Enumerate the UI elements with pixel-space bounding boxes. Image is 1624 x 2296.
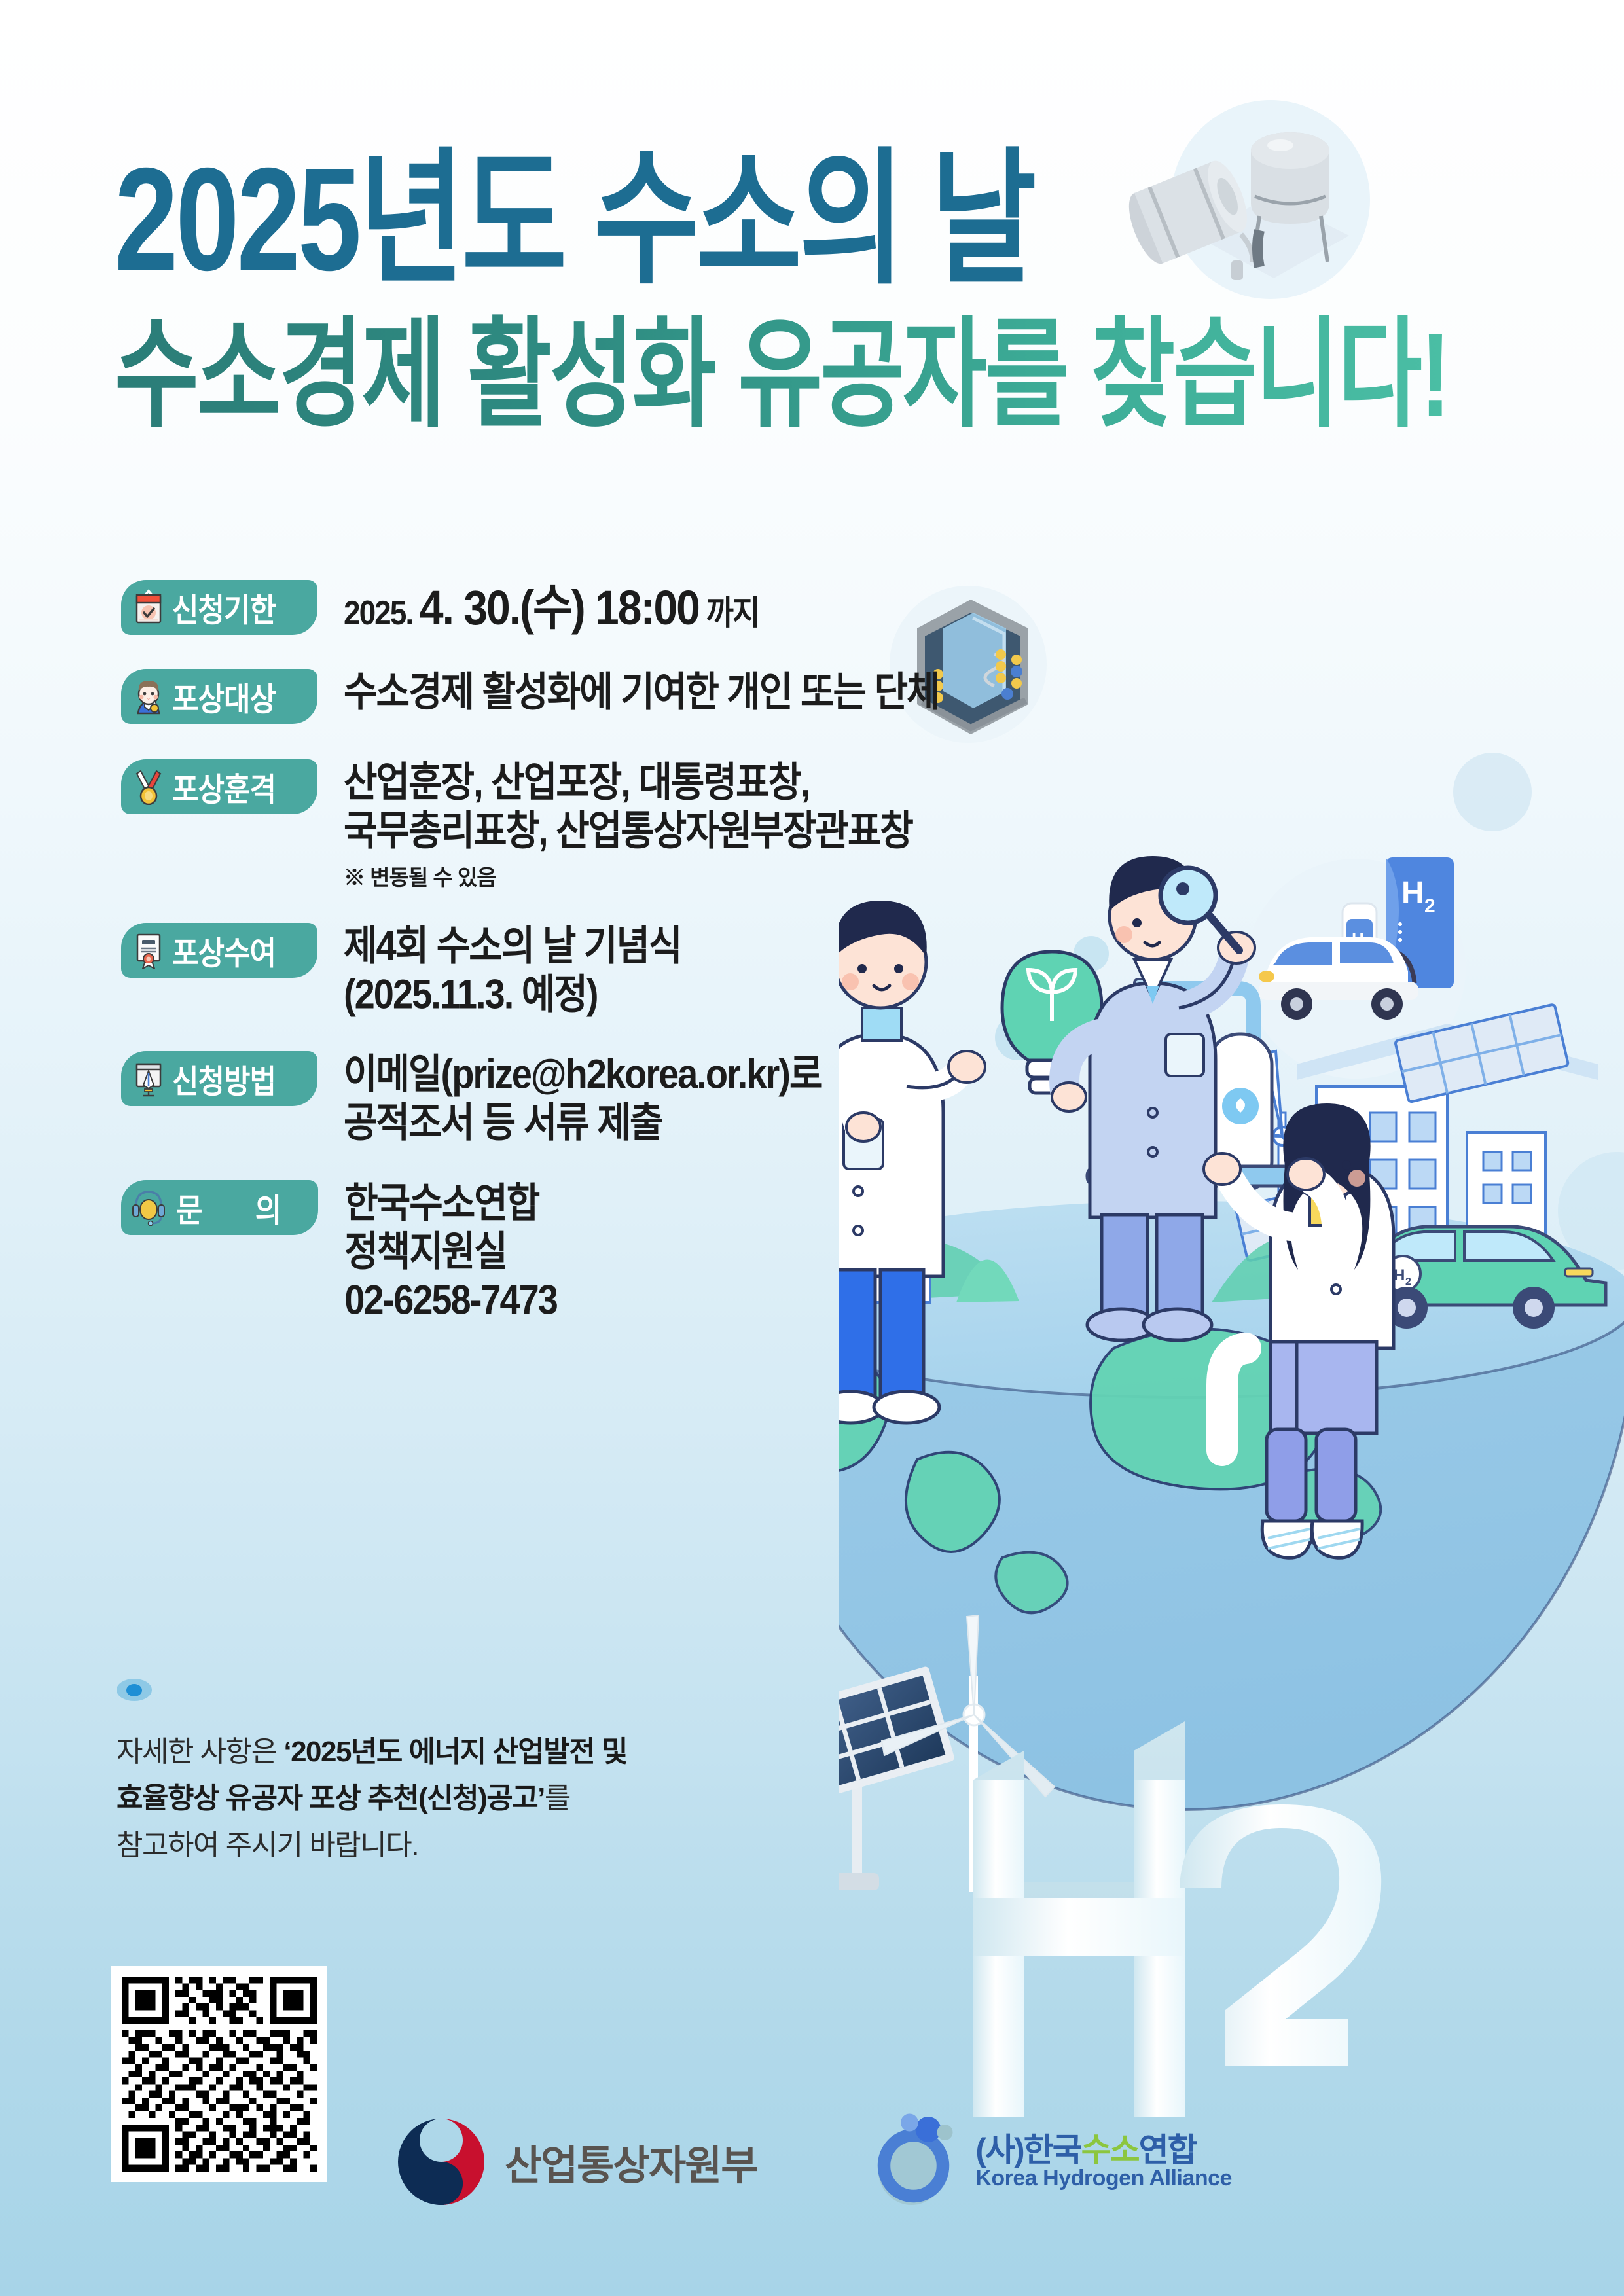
scientist-female-sitting [1204, 1103, 1394, 1558]
footer-logos: 산업통상자원부 (사)한국수소연합 Korea Hydrogen Allianc… [0, 2113, 1624, 2211]
contact-phone: 02-6258-7473 [344, 1273, 557, 1327]
footnote-l1-bold: ‘2025년도 에너지 산업발전 및 [283, 1736, 627, 1768]
badge-label-howto: 신청방법 [172, 1055, 276, 1102]
info-row-target: 포상대상 수소경제 활성화에 기여한 개인 또는 단체 [121, 665, 1070, 724]
info-text-contact: 한국수소연합 정책지원실 02-6258-7473 [344, 1176, 557, 1321]
svg-text:H: H [1394, 1266, 1405, 1284]
svg-text:2: 2 [1364, 941, 1370, 953]
contact-dept: 정책지원실 [344, 1225, 557, 1279]
info-text-howto: 이메일(prize@h2korea.or.kr)로 공적조서 등 서류 제출 [344, 1047, 821, 1144]
deadline-year: 2025. [344, 594, 420, 632]
page-title: 2025년도 수소의 날 [115, 141, 1489, 299]
svg-text:2: 2 [1424, 895, 1435, 917]
wind-turbine-icon [882, 1615, 1055, 1892]
info-row-deadline: 신청기한 2025. 4. 30.(수) 18:00 까지 [121, 576, 1070, 635]
info-text-deadline: 2025. 4. 30.(수) 18:00 까지 [344, 576, 759, 633]
info-row-ceremony: 포상수여 제4회 수소의 날 기념식 (2025.11.3. 예정) [121, 919, 1070, 1016]
solar-panel-wind-turbine [839, 1615, 1055, 1892]
footnote-l1-plain: 자세한 사항은 [117, 1736, 283, 1768]
kha-korean-name: (사)한국수소연합 [975, 2133, 1232, 2168]
bullet-dot-icon [117, 1679, 152, 1701]
svg-text:H: H [1401, 876, 1424, 910]
kha-text-block: (사)한국수소연합 Korea Hydrogen Alliance [975, 2133, 1232, 2191]
contact-org: 한국수소연합 [344, 1176, 557, 1230]
certificate-icon [132, 932, 166, 969]
badge-label-ceremony: 포상수여 [172, 927, 276, 974]
poster-canvas: 2025년도 수소의 날 수소경제 활성화 유공자를 찾습니다! [0, 0, 1624, 2296]
motie-taegeuk-icon [392, 2113, 490, 2211]
person-medal-icon [132, 678, 166, 715]
badge-label-deadline: 신청기한 [172, 584, 276, 631]
footnote-block: 자세한 사항은 ‘2025년도 에너지 산업발전 및 효율향상 유공자 포상 추… [117, 1679, 837, 1869]
h2-refuel-station-icon: H 2 H 2 [1246, 857, 1466, 1079]
info-row-howto: 신청방법 이메일(prize@h2korea.or.kr)로 공적조서 등 서류… [121, 1047, 1070, 1144]
bg-blob-3 [1074, 936, 1109, 971]
badge-label-awards: 포상훈격 [172, 763, 276, 810]
medal-icon [132, 768, 166, 805]
badge-label-target: 포상대상 [172, 673, 276, 720]
awards-note: ※ 변동될 수 있음 [344, 860, 912, 891]
bg-blob-2 [1453, 753, 1532, 831]
badge-howto: 신청방법 [121, 1051, 317, 1106]
footnote-line-1: 자세한 사항은 ‘2025년도 에너지 산업발전 및 [117, 1729, 837, 1775]
bg-blob-4 [1558, 1152, 1624, 1270]
info-text-awards: 산업훈장, 산업포장, 대통령표창, 국무총리표창, 산업통상자원부장관표창 ※… [344, 755, 912, 891]
ceremony-line-2: (2025.11.3. 예정) [344, 967, 681, 1022]
kha-ko-green: 수소 [1081, 2132, 1139, 2168]
kha-english-name: Korea Hydrogen Alliance [975, 2167, 1232, 2191]
footnote-l2-plain: 를 [545, 1782, 570, 1814]
info-row-contact: 문 의 한국수소연합 정책지원실 02-6258-7473 [121, 1176, 1070, 1321]
badge-label-contact: 문 의 [172, 1185, 304, 1232]
hydrogen-tanks-apparatus [1087, 979, 1297, 1191]
motie-logo: 산업통상자원부 [392, 2113, 757, 2211]
headset-icon [132, 1189, 166, 1226]
badge-ceremony: 포상수여 [121, 923, 317, 978]
info-text-target: 수소경제 활성화에 기여한 개인 또는 단체 [344, 665, 939, 713]
footnote-l2-bold: 효율향상 유공자 포상 추천(신청)공고’ [117, 1782, 545, 1814]
badge-contact: 문 의 [121, 1180, 318, 1235]
document-pen-icon [132, 1060, 166, 1097]
footnote-line-2: 효율향상 유공자 포상 추천(신청)공고’를 [117, 1775, 837, 1821]
page-subtitle: 수소경제 활성화 유공자를 찾습니다! [115, 310, 1489, 439]
info-rows: 신청기한 2025. 4. 30.(수) 18:00 까지 [121, 576, 1070, 1346]
h2-3d-logo [973, 1721, 1381, 2117]
deadline-line: 2025. 4. 30.(수) 18:00 까지 [344, 576, 759, 640]
info-row-awards: 포상훈격 산업훈장, 산업포장, 대통령표창, 국무총리표창, 산업통상자원부장… [121, 755, 1070, 891]
calendar-check-icon [132, 589, 166, 626]
scientist-male-center [1052, 856, 1255, 1340]
badge-deadline: 신청기한 [121, 580, 317, 635]
info-text-ceremony: 제4회 수소의 날 기념식 (2025.11.3. 예정) [344, 919, 681, 1016]
ceremony-line-1: 제4회 수소의 날 기념식 [344, 919, 681, 973]
kha-ko-suffix: 연합 [1139, 2132, 1197, 2168]
hydrogen-car: H 2 [1362, 1227, 1606, 1329]
howto-line-1: 이메일(prize@h2korea.or.kr)로 [344, 1047, 821, 1102]
deadline-suffix: 까지 [699, 594, 759, 632]
deadline-datetime: 4. 30.(수) 18:00 [420, 581, 699, 635]
headline-block: 2025년도 수소의 날 수소경제 활성화 유공자를 찾습니다! [115, 141, 1489, 409]
kha-ko-prefix: (사)한국 [975, 2132, 1081, 2168]
svg-text:H: H [1352, 929, 1364, 949]
badge-awards: 포상훈격 [121, 759, 317, 814]
footnote-line-3: 참고하여 주시기 바랍니다. [117, 1822, 837, 1869]
awards-line-2: 국무총리표창, 산업통상자원부장관표창 [344, 804, 912, 858]
badge-target: 포상대상 [121, 669, 317, 724]
kha-logo: (사)한국수소연합 Korea Hydrogen Alliance [865, 2113, 1232, 2211]
kha-mark-icon [865, 2113, 966, 2211]
awards-line-1: 산업훈장, 산업포장, 대통령표창, [344, 755, 912, 810]
howto-line-2: 공적조서 등 서류 제출 [344, 1096, 821, 1150]
motie-label: 산업통상자원부 [505, 2132, 757, 2191]
svg-text:2: 2 [1405, 1276, 1411, 1287]
target-line: 수소경제 활성화에 기여한 개인 또는 단체 [344, 665, 939, 719]
